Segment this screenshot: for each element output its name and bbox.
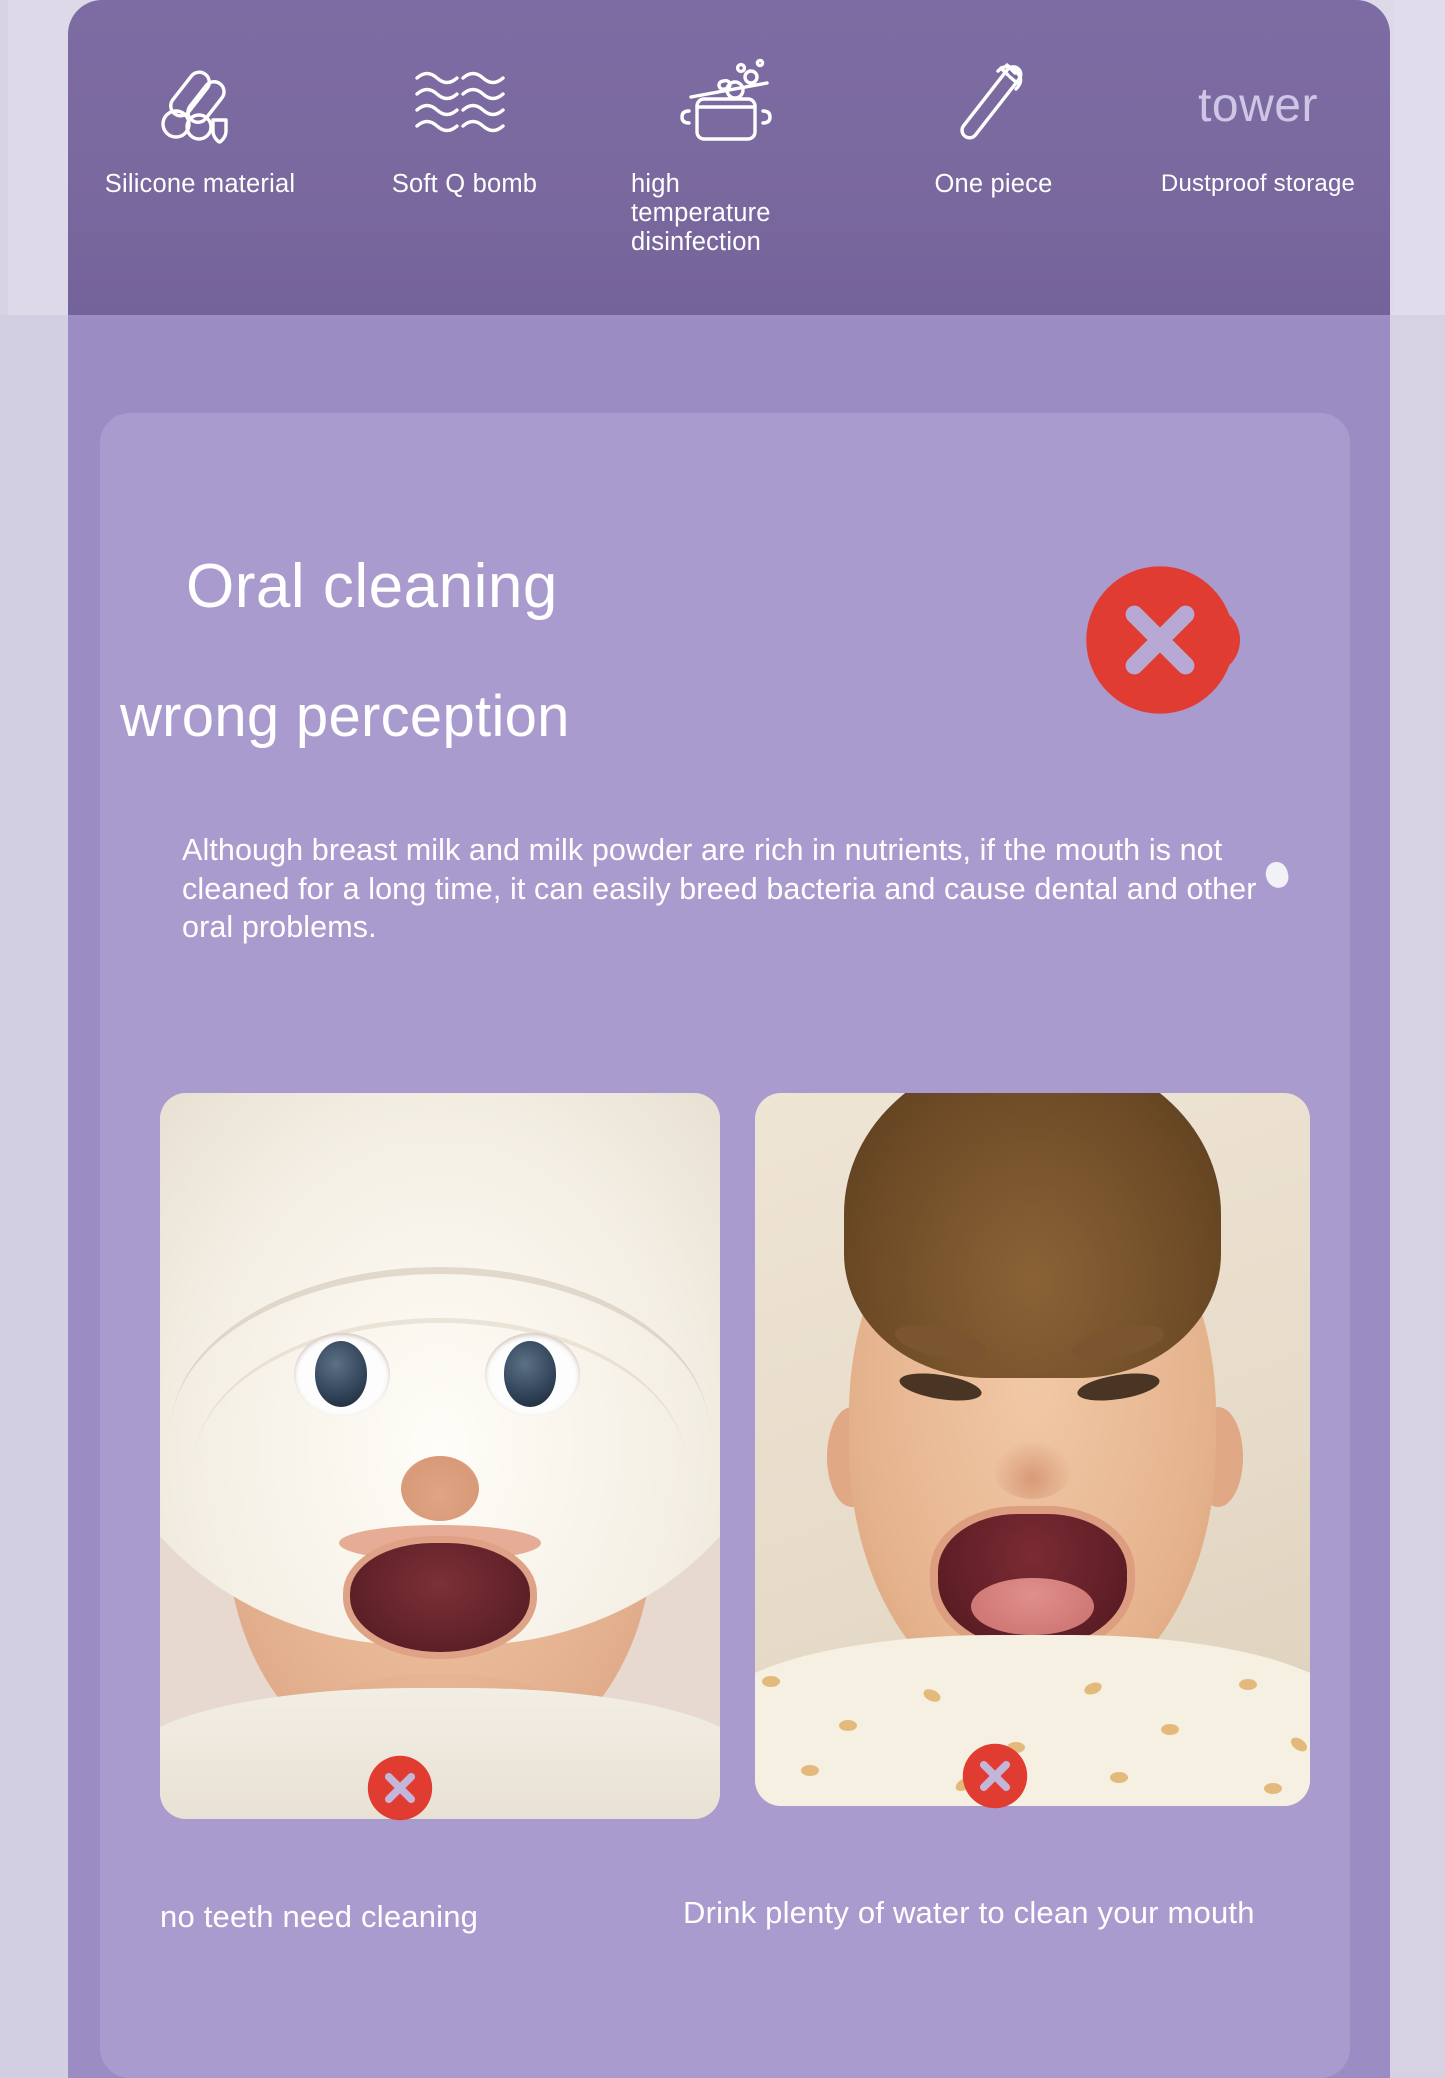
photo-card-smiling-baby[interactable] [160,1093,720,1819]
feature-label: One piece [934,170,1052,199]
photo-caption: no teeth need cleaning [160,1899,478,1935]
photo-image [755,1093,1310,1806]
page-root: Silicone material Soft Q bomb [0,0,1445,2078]
feature-label: Soft Q bomb [392,170,537,199]
tower-wordmark: tower [1198,46,1318,164]
photo-caption: Drink plenty of water to clean your mout… [683,1895,1255,1931]
boiling-pot-icon [675,46,783,164]
feature-label: high temperature disinfection [623,170,835,256]
feature-label: Dustproof storage [1161,170,1355,197]
feature-header-band: Silicone material Soft Q bomb [68,0,1390,315]
feature-item-one-piece[interactable]: One piece [888,46,1100,199]
red-x-badge [365,1753,435,1823]
content-card: Oral cleaning wrong perception Although … [100,413,1350,2078]
red-x-badge [960,1741,1030,1811]
silicone-tubes-icon [152,46,248,164]
feature-label: Silicone material [105,170,295,199]
page-subtitle: wrong perception [120,683,570,750]
soft-waves-icon [413,46,517,164]
page-title: Oral cleaning [186,551,558,622]
body-left-gutter [0,315,68,2078]
photo-row [120,1093,1330,1833]
decorative-speck [1264,860,1291,890]
feature-item-dustproof-storage[interactable]: tower Dustproof storage [1152,46,1364,197]
photo-card-crying-baby[interactable] [755,1093,1310,1806]
toothbrush-icon [946,46,1042,164]
feature-item-soft-q-bomb[interactable]: Soft Q bomb [359,46,571,199]
photo-image [160,1093,720,1819]
description-paragraph: Although breast milk and milk powder are… [182,831,1257,947]
tower-text: tower [1198,78,1318,133]
feature-item-high-temperature-disinfection[interactable]: high temperature disinfection [623,46,835,256]
body-right-gutter [1390,315,1445,2078]
feature-item-silicone-material[interactable]: Silicone material [94,46,306,199]
red-x-badge [1080,560,1240,720]
